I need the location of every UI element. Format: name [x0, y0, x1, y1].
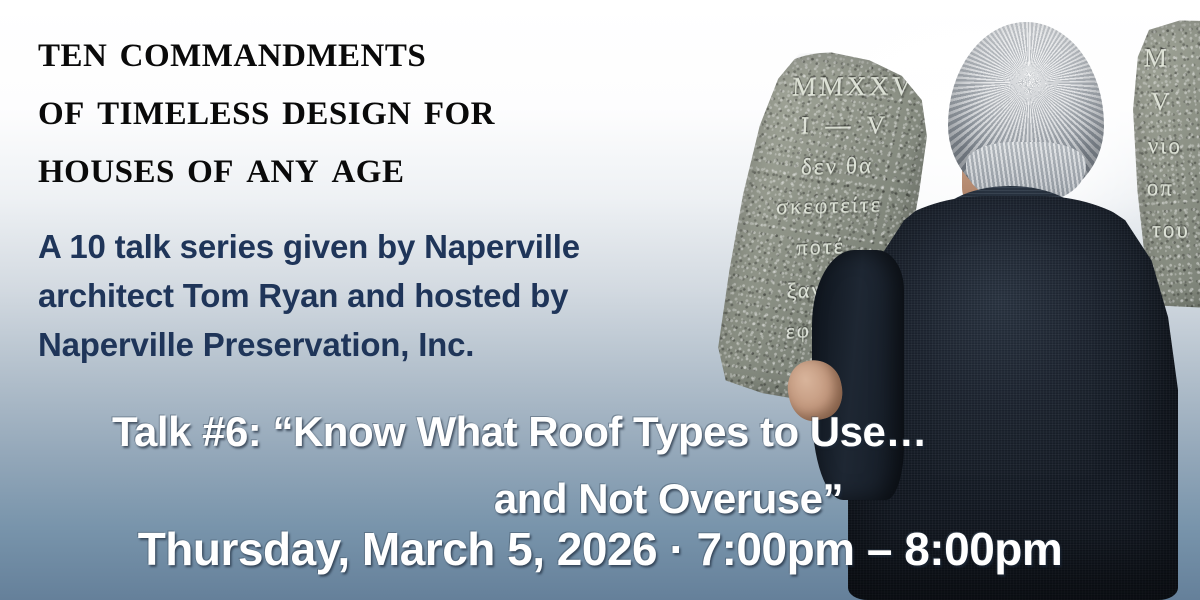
subtitle-line-2: architect Tom Ryan and hosted by	[38, 271, 718, 320]
event-poster: M V νιο οπ του MMXXV I — V δεν θα σκεφτε…	[0, 0, 1200, 600]
subtitle-line-1: A 10 talk series given by Naperville	[38, 222, 718, 271]
poster-text: Ten Commandments of Timeless Design for …	[0, 0, 1200, 600]
page-title: Ten Commandments of Timeless Design for …	[38, 22, 728, 196]
subtitle-line-3: Naperville Preservation, Inc.	[38, 320, 718, 369]
headline-line-3: Houses of any Age	[38, 138, 728, 196]
headline-line-2: of Timeless Design for	[38, 80, 728, 138]
series-description: A 10 talk series given by Naperville arc…	[38, 222, 718, 369]
event-datetime: Thursday, March 5, 2026 · 7:00pm – 8:00p…	[0, 521, 1200, 577]
talk-title: Talk #6: “Know What Roof Types to Use… a…	[40, 398, 1110, 532]
talk-title-line-1: Talk #6: “Know What Roof Types to Use…	[40, 398, 1110, 465]
headline-line-1: Ten Commandments	[38, 22, 728, 80]
